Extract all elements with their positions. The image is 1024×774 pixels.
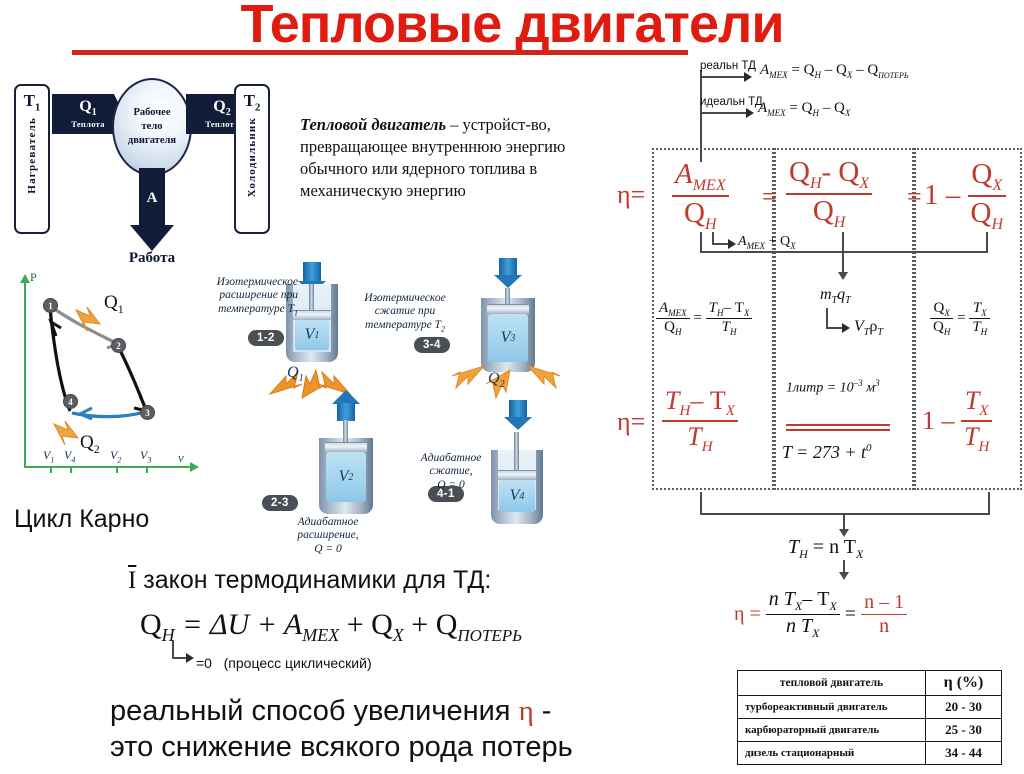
eta-equals-2: = [907,182,922,212]
bracket-row3-left [700,492,702,514]
eta-symbol-row3: η= [617,407,645,437]
fuel-branch-vert [826,308,828,328]
conclusion-eta: η [519,695,534,727]
bracket-row1-left [700,232,702,252]
final-eta-equation: η = n TХ– TХ n TХ = n – 1 n [734,588,907,641]
caption-1-2: Изотермическое расширение при температур… [178,276,298,318]
work-arrow-head [130,225,174,251]
q2-label-cylinder: Q2 [488,370,505,390]
th-equals-ntx: TН = n TХ [788,536,863,562]
row2-right-equals: = [957,310,965,327]
blue-arrow-up-23 [337,403,355,421]
ideal-td-label: идеальн ТД [700,96,763,108]
final-result-num: n – 1 [861,591,907,614]
first-law-heading-text: закон термодинамики для ТД: [136,566,491,594]
cylinder-gas-12: V1 [295,320,329,350]
result-down-arrow [839,572,849,580]
carnot-cycle-caption: Цикл Карно [14,505,149,534]
working-body-line1: Рабочее [134,106,171,120]
q2-symbol: Q2 [213,99,230,118]
kelvin-double-rule [786,424,890,431]
q1-label-cylinder: Q1 [287,364,304,384]
heater-box: T1 Нагреватель [14,84,50,234]
badge-2-3: 2-3 [262,495,298,511]
table-header-eta: η (%) [926,671,1002,696]
ideal-td-equation: AМЕХ = QН – QХ [758,100,850,118]
fuel-volume-density: VТρТ [854,318,883,338]
branch-line-real [700,76,746,78]
final-result-den: n [861,614,907,638]
definition-text: Тепловой двигатель – устройст-во, превра… [300,114,600,202]
amex-plus-qx: AМЕХ + QХ [738,234,796,251]
cylinder-2-3: V2 [308,390,388,520]
final-equals: = [845,603,856,626]
eta-temp-fraction-left: TН– TХ TН [662,386,738,456]
eta-symbol-row1: η= [617,180,645,210]
blue-arrow-down-34 [499,258,517,276]
first-law-branch-vert [172,640,174,658]
first-law-zero: =0 [196,655,212,671]
pv-q2-label: Q2 [80,432,100,457]
table-row: дизель стационарный 34 - 44 [738,742,1002,765]
table-header-engine: тепловой двигатель [738,671,926,696]
eta-one-minus-qx-qh: 1 – QХ QН [924,158,1006,234]
cylinder-piston-23 [325,442,367,452]
cylinder-3-4: V3 [468,258,548,388]
row3-one-minus: 1 – [922,406,955,436]
first-law-branch-arrow [186,653,194,663]
pv-diagram: P v 1 2 3 4 Q1 Q2 V1 V4 V2 V3 [6,266,206,488]
one-minus-text: 1 – [924,179,960,212]
table-header-row: тепловой двигатель η (%) [738,671,1002,696]
working-body-ellipse: Рабочее тело двигателя [112,78,192,176]
caption-4-1: Адиабатное сжатие, Q = 0 [398,452,504,492]
page-title: Тепловые двигатели [0,0,1024,53]
cylinder-rod-12 [309,284,314,312]
table-cell-engine-eta: 20 - 30 [926,696,1002,719]
table-cell-engine-name: дизель стационарный [738,742,926,765]
conclusion-line2: это снижение всякого рода потерь [110,731,573,763]
center-down-line [842,232,844,274]
liter-conversion-note: 1литр = 10–3 м3 [786,378,880,397]
first-law-heading: I закон термодинамики для ТД: [128,566,491,595]
kelvin-conversion-note: T = 273 + t0 [782,442,871,463]
qx-qh-equals-temps: QХ QН = TХ TН [930,300,990,337]
pv-tick-v4 [70,466,72,473]
branch-arrow-ideal [746,108,754,118]
conclusion-line1-b: - [534,695,552,727]
bracket-row1-horizontal [700,251,988,253]
real-td-label: реальн ТД [700,60,756,72]
first-law-equation: QН = ΔU + AМЕХ + QХ + QПОТЕРЬ [140,608,522,646]
cylinder-gas-23: V2 [326,452,366,502]
branch-line-ideal [700,112,748,114]
engine-schematic: T1 Нагреватель Q1 Теплота Рабочее тело д… [8,68,278,243]
cooler-label: Холодильник [246,117,258,197]
cylinder-piston-12 [293,310,331,320]
work-arrow-stem: A [139,168,165,226]
working-body-line3: двигателя [128,134,176,148]
first-law-note: =0 (процесс циклический) [196,655,372,671]
efficiency-table: тепловой двигатель η (%) турбореактивный… [737,670,1002,765]
pv-label-v1: V1 [43,448,54,464]
bracket-row3-horizontal [700,513,990,515]
blue-arrow-down-12 [303,262,321,282]
cooler-box: T2 Холодильник [234,84,270,234]
blue-arrowhead-down-41 [504,417,532,430]
cylinder-piston-34 [487,304,529,314]
cooler-temperature: T2 [236,86,268,113]
row2-left-equals: = [693,310,701,327]
table-row: карбюраторный двигатель 25 - 30 [738,719,1002,742]
blue-arrowhead-up-23 [332,390,360,404]
caption-2-3: Адиабатное расширение, Q = 0 [272,516,384,556]
cylinder-rod-41 [514,432,519,472]
fuel-branch-arrow [842,323,850,333]
conclusion-text: реальный способ увеличения η - это сниже… [110,693,573,766]
definition-term: Тепловой двигатель [300,115,446,134]
q1-symbol: Q1 [79,99,96,118]
first-law-note-text: (процесс циклический) [224,655,372,671]
conclusion-line1-a: реальный способ увеличения [110,695,519,727]
center-down-arrow [838,272,848,280]
title-underline [72,50,688,55]
badge-1-2: 1-2 [248,330,284,346]
pv-label-v4: V4 [64,448,75,464]
cylinder-gas-41: V4 [499,480,535,512]
eta-fraction-amex-qh: AМЕХ QН [672,158,729,234]
work-letter: A [139,190,165,207]
badge-3-4: 3-4 [414,337,450,353]
working-body-line2: тело [142,120,163,134]
pv-tick-v3 [146,466,148,473]
eta-fraction-qh-minus-qx: QН- QХ QН [786,156,872,232]
pv-label-v3: V3 [140,448,151,464]
table-cell-engine-name: карбюраторный двигатель [738,719,926,742]
table-cell-engine-name: турбореактивный двигатель [738,696,926,719]
pv-tick-v1 [50,466,52,473]
amex-qh-equals-temps: AМЕХ QН = TН– TХ TН [656,300,752,337]
caption-3-4: Изотермическое сжатие при температуре T2 [344,292,466,334]
real-td-equation: AМЕХ = QН – QХ – QПОТЕРЬ [760,62,909,80]
eta-equals-1: = [762,182,777,212]
final-eta-symbol: η = [734,603,761,626]
pv-q1-label: Q1 [104,292,124,317]
table-cell-engine-eta: 25 - 30 [926,719,1002,742]
table-row: турбореактивный двигатель 20 - 30 [738,696,1002,719]
table-cell-engine-eta: 34 - 44 [926,742,1002,765]
work-label: Работа [108,250,196,267]
pv-label-v2: V2 [110,448,121,464]
q1-caption: Теплота [71,119,105,129]
fuel-mass-heat: mТqТ [820,286,851,306]
pv-tick-v2 [116,466,118,473]
eta-temp-fraction-right: 1 – TХ TН [922,386,992,456]
bracket-row3-right [988,492,990,514]
branch-amex-qx-arrow [728,239,736,249]
blue-arrow-down-41 [509,400,527,418]
branch-arrow-real [744,72,752,82]
cylinder-gas-34: V3 [488,314,528,362]
bracket-row1-right [986,232,988,252]
blue-arrowhead-down-34 [494,275,522,288]
heater-temperature: T1 [16,86,48,113]
heater-label: Нагреватель [26,117,38,194]
